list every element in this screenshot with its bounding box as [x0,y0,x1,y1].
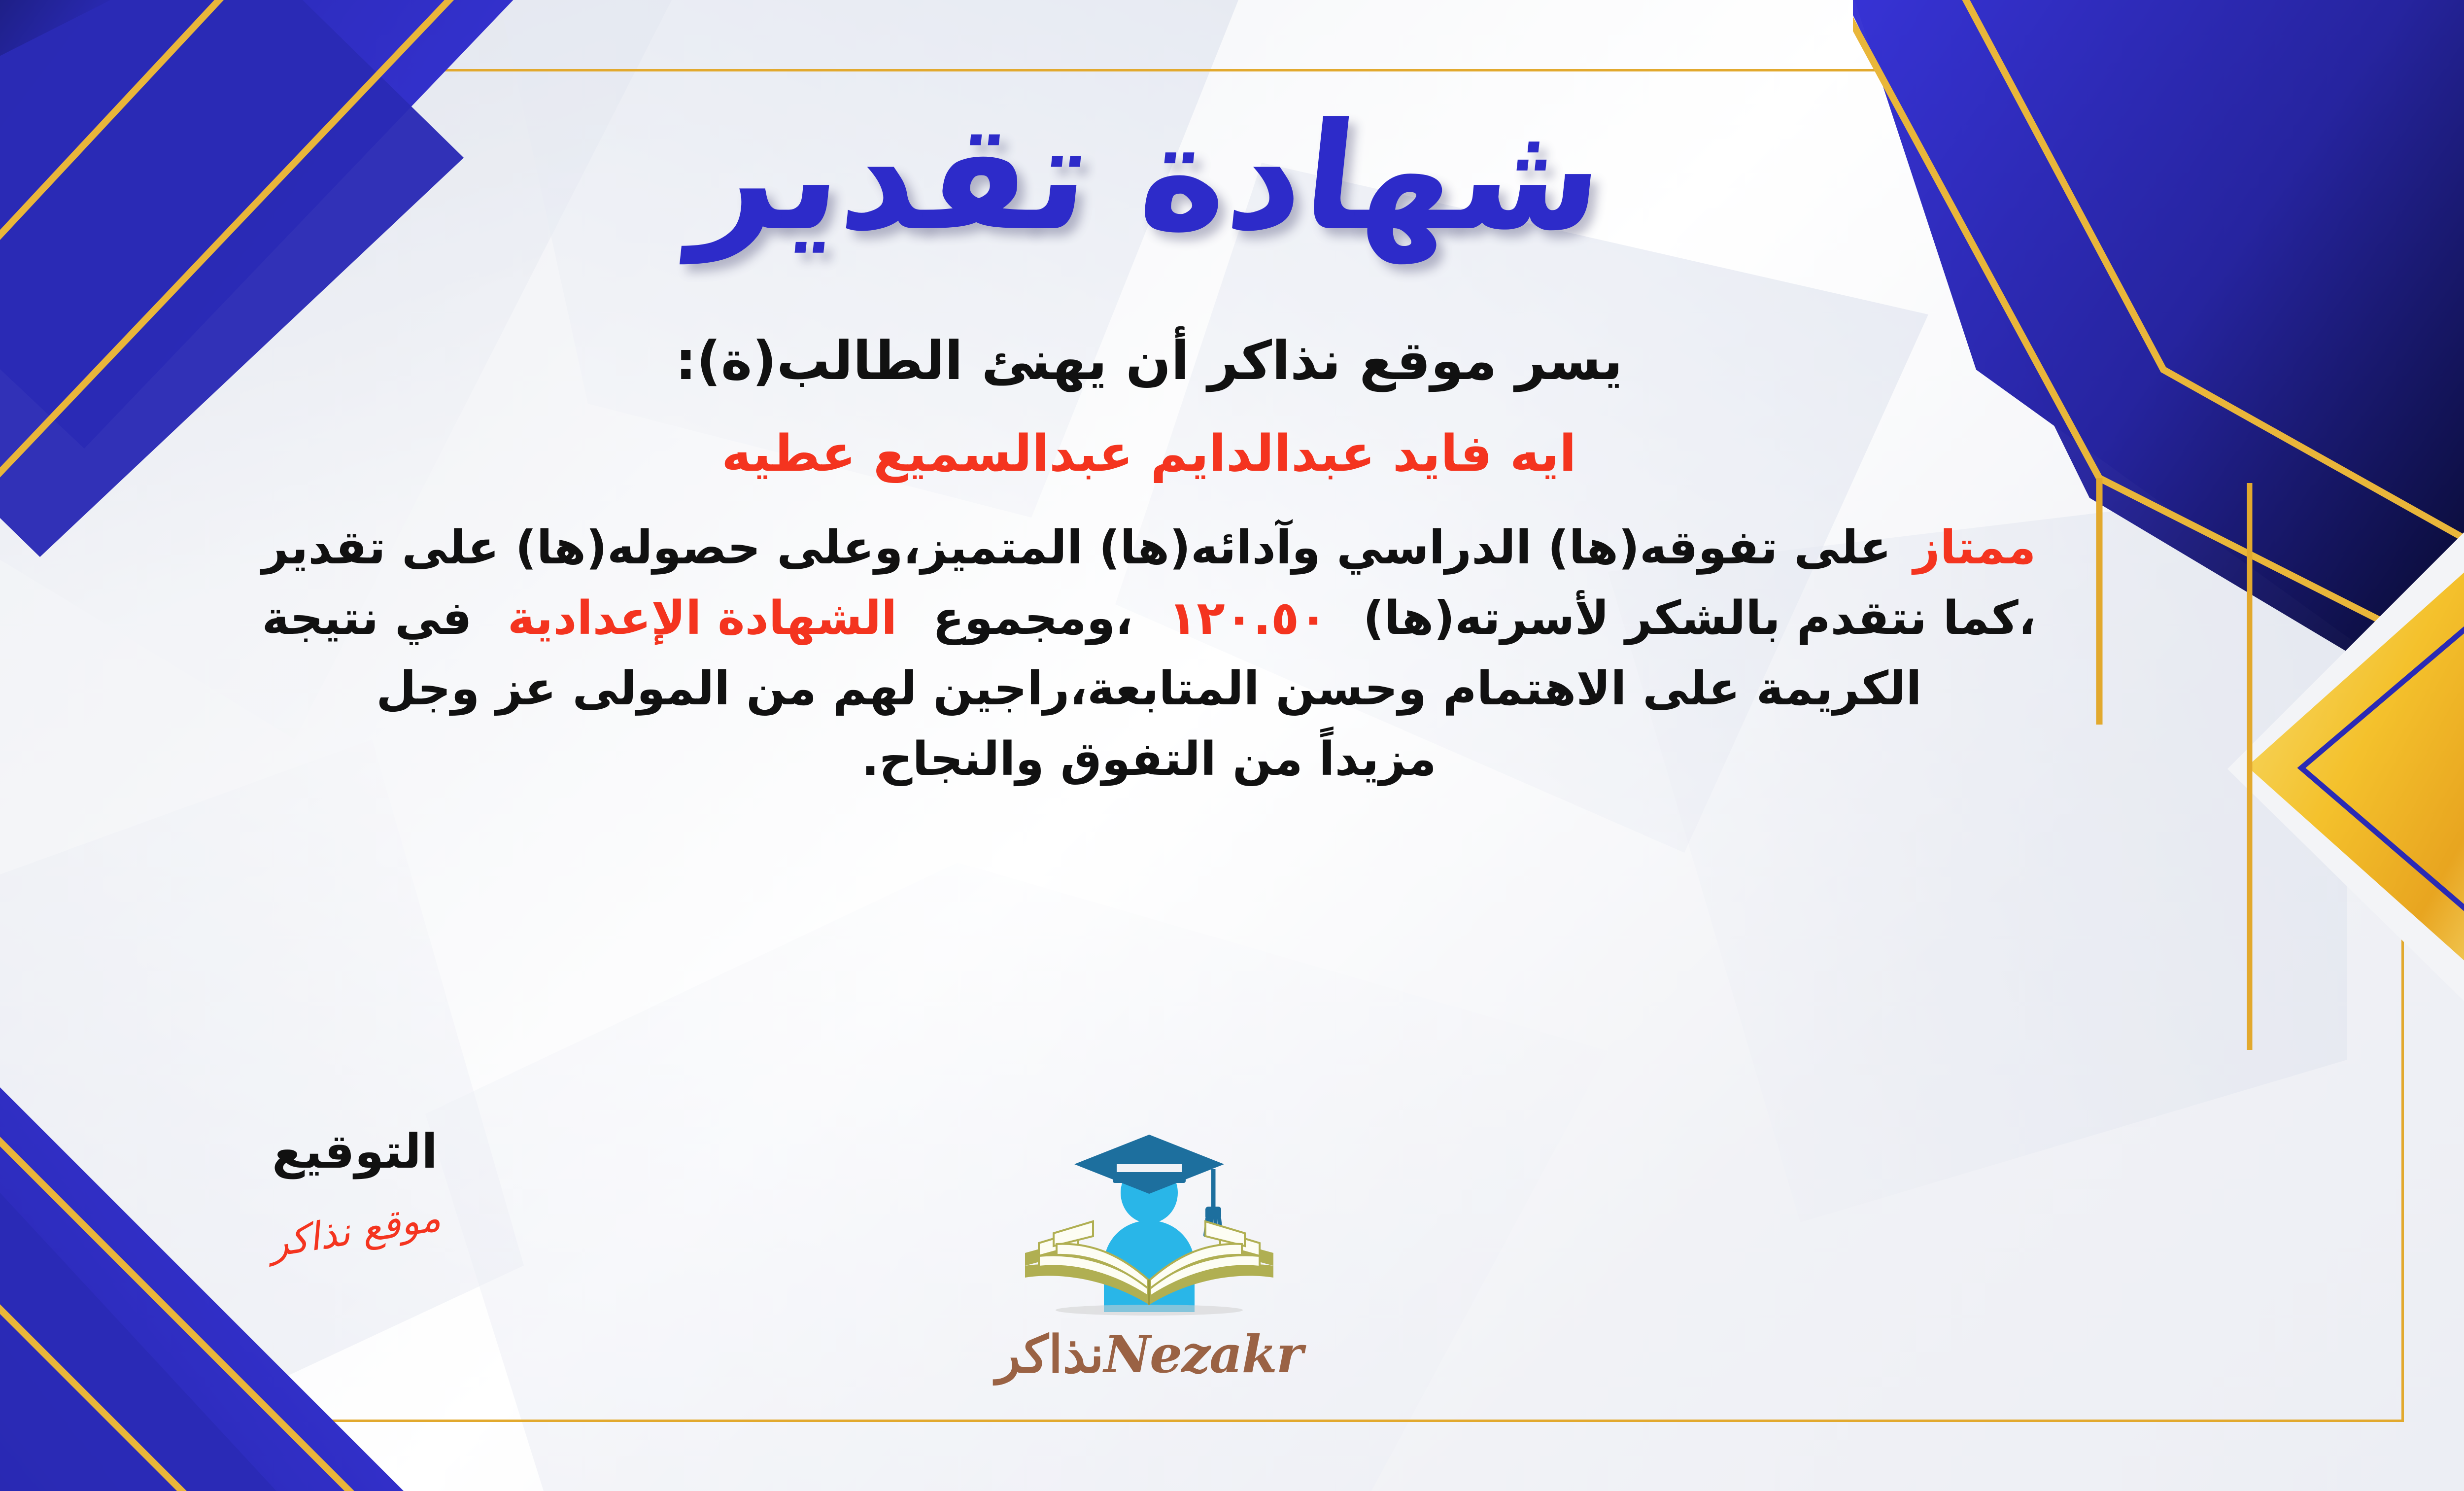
paragraph-line-2: ممتاز على تفوقه(ها) الدراسي وآدائه(ها) ا… [262,513,2036,584]
certificate-name: الشهادة الإعدادية [508,584,897,654]
signature-value: موقع نذاكر [266,1195,444,1266]
logo-wordmark-arabic: نذاكر [996,1324,1104,1385]
paragraph-line-4: الكريمة على الاهتمام وحسن المتابعة،راجين… [262,654,2036,725]
congratulation-line: يسر موقع نذاكر أن يهنئ الطالب(ة): [262,325,2036,397]
brand-logo: Nezakrنذاكر [957,1124,1341,1385]
certificate-content: شهادة تقدير يسر موقع نذاكر أن يهنئ الطال… [0,0,2464,1491]
result-label: في نتيجة [262,584,472,654]
certificate-title: شهادة تقدير [687,104,1611,251]
signature-block: التوقيع موقع نذاكر [182,1124,527,1253]
thanks-clause: ،كما نتقدم بالشكر لأسرته(ها) [1363,584,2036,654]
paragraph-line-3: ،كما نتقدم بالشكر لأسرته(ها) ١٢٠.٥٠ ،ومج… [262,584,2036,654]
logo-wordmark: Nezakrنذاكر [957,1324,1341,1385]
graduate-book-icon [1011,1124,1287,1321]
paragraph-line-5: مزيداً من التفوق والنجاح. [262,725,2036,795]
total-score-value: ١٢٠.٥٠ [1168,584,1328,654]
certificate-canvas: شهادة تقدير يسر موقع نذاكر أن يهنئ الطال… [0,0,2464,1491]
paragraph-line-2-text: على تفوقه(ها) الدراسي وآدائه(ها) المتميز… [262,513,1891,584]
logo-wordmark-latin: Nezakr [1104,1324,1302,1385]
title-area: شهادة تقدير [0,74,2464,281]
certificate-footer: التوقيع موقع نذاكر [0,1124,2464,1439]
student-name: ايه فايد عبدالدايم عبدالسميع عطيه [262,420,2036,488]
total-label: ،ومجموع [933,584,1133,654]
certificate-body: يسر موقع نذاكر أن يهنئ الطالب(ة): ايه فا… [262,325,2036,795]
signature-label: التوقيع [182,1124,527,1179]
grade-value: ممتاز [1914,513,2036,584]
achievement-paragraph: ممتاز على تفوقه(ها) الدراسي وآدائه(ها) ا… [262,513,2036,795]
